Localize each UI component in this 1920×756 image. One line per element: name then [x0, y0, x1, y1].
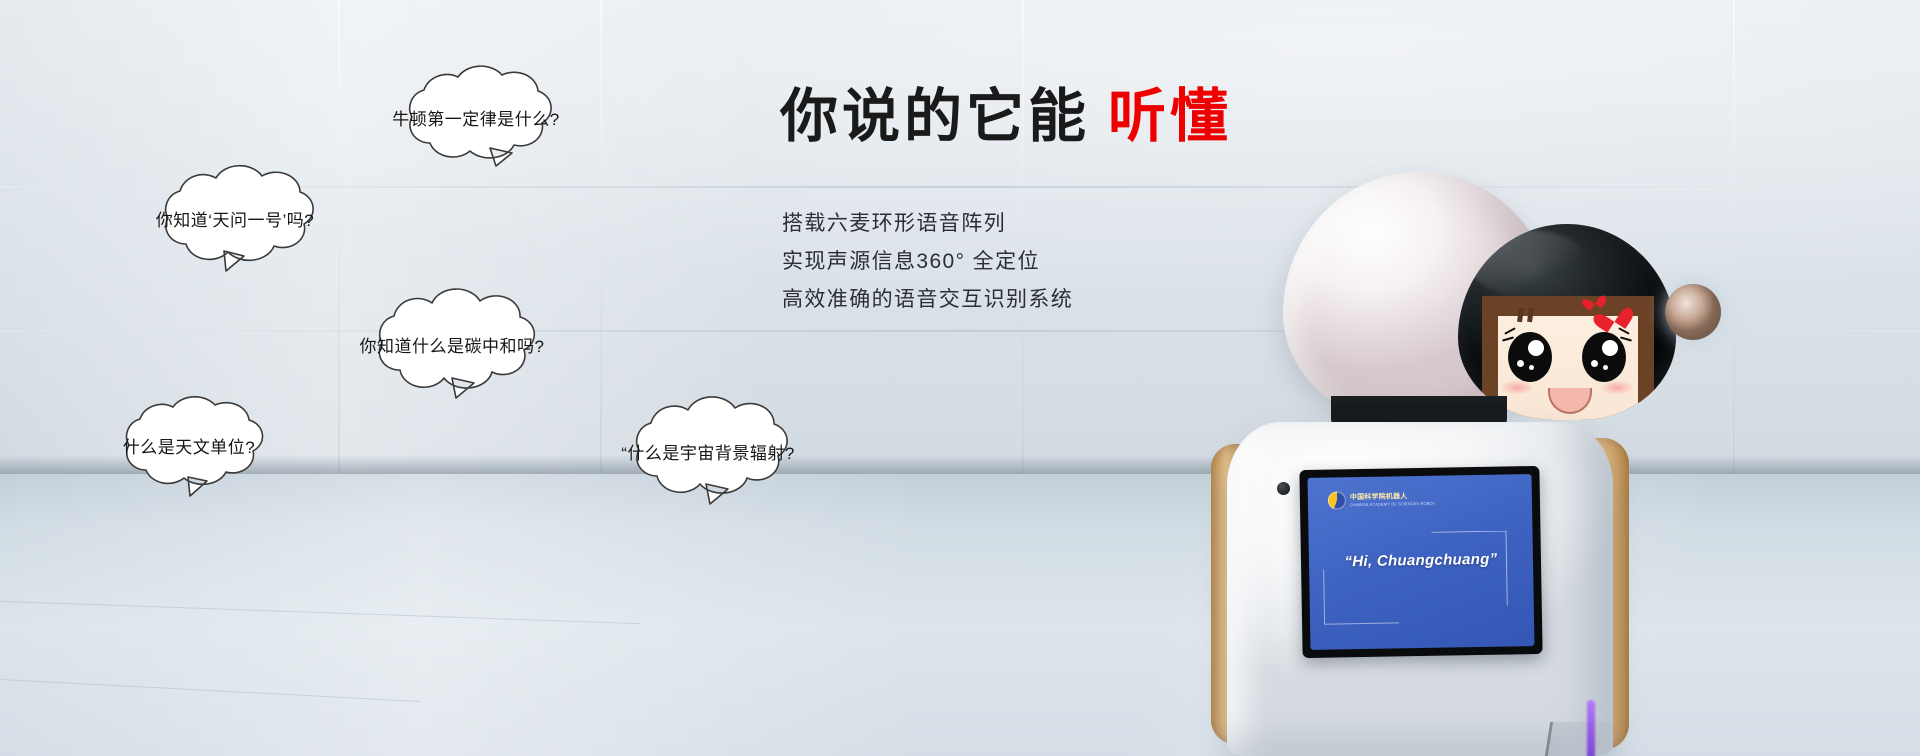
- blush-icon: [1500, 380, 1534, 395]
- speech-bubble-shape: [132, 163, 338, 273]
- screen-corner-decor: [1431, 531, 1507, 607]
- speech-bubble: “什么是宇宙背景辐射?: [602, 396, 814, 506]
- screen-corner-decor: [1323, 568, 1399, 624]
- robot-head: [1283, 172, 1555, 424]
- visor-gloss: [1468, 230, 1588, 296]
- robot-tablet[interactable]: 中国科学院机器人 CHINESE ACADEMY OF SCIENCES ROB…: [1299, 466, 1542, 658]
- hair-icon: [1527, 308, 1534, 323]
- hair-icon: [1638, 296, 1654, 420]
- service-robot: 中国科学院机器人 CHINESE ACADEMY OF SCIENCES ROB…: [1135, 160, 1695, 756]
- subtitle-line-1: 搭载六麦环形语音阵列: [782, 205, 1073, 243]
- robot-face: [1482, 296, 1654, 420]
- wall-tile-line: [1733, 0, 1735, 474]
- eyelash-icon: [1620, 336, 1632, 341]
- status-light: [1587, 700, 1595, 756]
- speech-bubble: 什么是天文单位?: [96, 393, 282, 497]
- logo-mark-icon: [1328, 491, 1346, 509]
- wall-tile-line: [338, 0, 340, 474]
- eye-icon: [1508, 332, 1552, 382]
- speech-bubble-shape: [344, 288, 560, 400]
- blush-icon: [1600, 380, 1634, 395]
- headline-black: 你说的它能: [780, 84, 1090, 149]
- camera-icon: [1277, 482, 1290, 495]
- subtitle-block: 搭载六麦环形语音阵列 实现声源信息360° 全定位 高效准确的语音交互识别系统: [782, 205, 1073, 319]
- speech-bubble-shape: [602, 396, 814, 506]
- robot-visor: [1458, 224, 1676, 420]
- headline-red: 听懂: [1108, 84, 1232, 149]
- robot-ear: [1665, 284, 1721, 340]
- promo-banner: 你说的它能听懂 搭载六麦环形语音阵列 实现声源信息360° 全定位 高效准确的语…: [0, 0, 1920, 756]
- speech-bubble: 牛顿第一定律是什么?: [378, 62, 574, 172]
- speech-bubble: 你知道什么是碳中和吗?: [344, 288, 560, 400]
- eye-icon: [1582, 332, 1626, 382]
- smile-icon: [1548, 388, 1592, 414]
- speech-bubble: 你知道‘天问一号’吗?: [132, 163, 338, 273]
- heart-icon: [1598, 300, 1629, 331]
- speech-bubble-shape: [96, 393, 282, 497]
- body-seam: [1504, 722, 1703, 756]
- hair-icon: [1517, 308, 1524, 323]
- subtitle-line-2: 实现声源信息360° 全定位: [782, 243, 1073, 281]
- screen-logo-subtext: CHINESE ACADEMY OF SCIENCES ROBOT: [1350, 500, 1435, 506]
- speech-bubble-shape: [378, 62, 574, 172]
- page-title: 你说的它能听懂: [780, 88, 1232, 146]
- robot-screen[interactable]: 中国科学院机器人 CHINESE ACADEMY OF SCIENCES ROB…: [1308, 474, 1535, 650]
- eyelash-icon: [1504, 327, 1516, 334]
- subtitle-line-3: 高效准确的语音交互识别系统: [782, 281, 1073, 319]
- screen-logo: 中国科学院机器人 CHINESE ACADEMY OF SCIENCES ROB…: [1328, 490, 1436, 510]
